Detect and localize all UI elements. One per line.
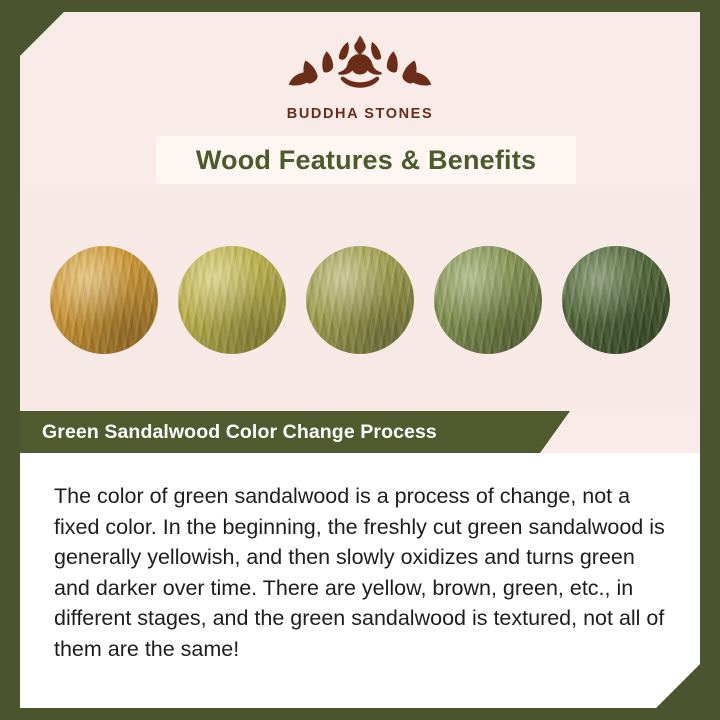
swatch-yellow-orange — [50, 246, 158, 354]
section-label-text: Green Sandalwood Color Change Process — [20, 421, 437, 444]
page-title: Wood Features & Benefits — [196, 145, 536, 176]
swatch-olive — [306, 246, 414, 354]
sphere-shading — [562, 246, 670, 354]
body-paragraph: The color of green sandalwood is a proce… — [54, 481, 666, 664]
swatch-green — [434, 246, 542, 354]
sphere-shading — [178, 246, 286, 354]
swatch-dark-green — [562, 246, 670, 354]
sphere-shading — [306, 246, 414, 354]
title-band: Wood Features & Benefits — [156, 136, 576, 184]
body-card: The color of green sandalwood is a proce… — [20, 453, 700, 708]
header: BUDDHA STONES Wood Features & Benefits — [20, 12, 700, 188]
brand-lockup: BUDDHA STONES — [20, 30, 700, 122]
lotus-meditation-icon — [285, 30, 435, 104]
poster-root: BUDDHA STONES Wood Features & Benefits — [0, 0, 720, 720]
swatch-yellow-green — [178, 246, 286, 354]
wood-color-swatch-strip — [20, 188, 700, 411]
section-label-bar: Green Sandalwood Color Change Process — [20, 411, 540, 453]
sphere-shading — [434, 246, 542, 354]
poster-frame: BUDDHA STONES Wood Features & Benefits — [20, 12, 700, 708]
brand-name: BUDDHA STONES — [287, 106, 433, 122]
sphere-shading — [50, 246, 158, 354]
